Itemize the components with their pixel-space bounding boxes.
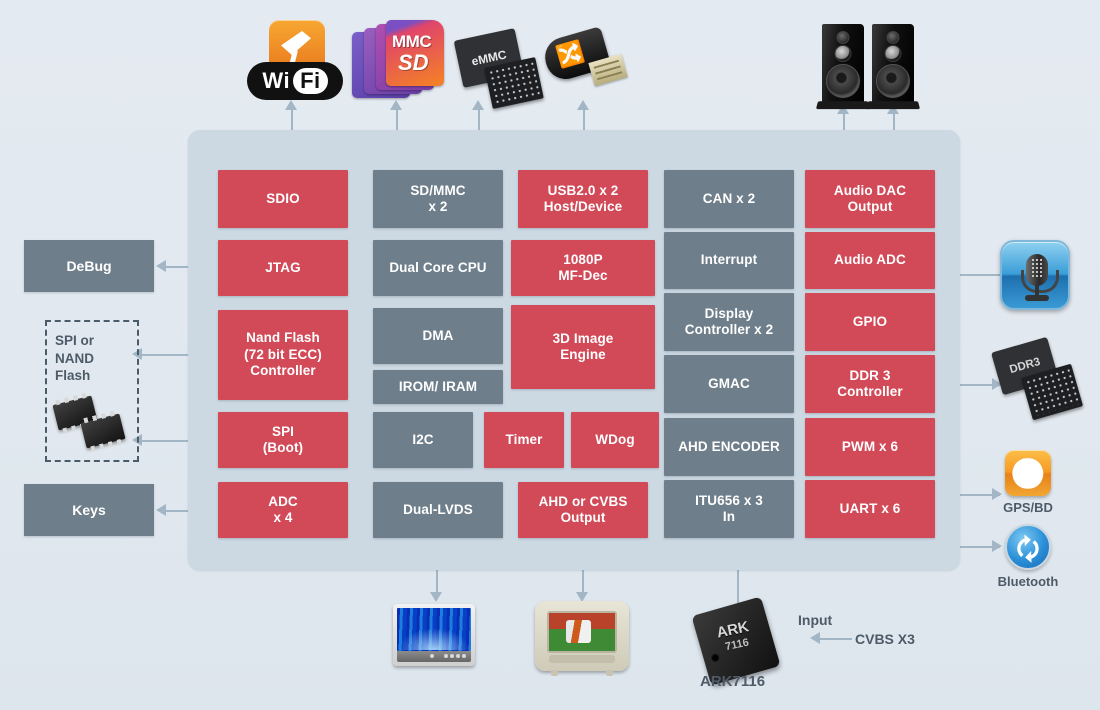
block-3d-image-engine[interactable]: 3D Image Engine: [511, 305, 655, 389]
peripheral-usb-flash-drive[interactable]: [545, 28, 631, 108]
block-pwm-x6[interactable]: PWM x 6: [805, 418, 935, 476]
block-label: Dual-LVDS: [403, 502, 473, 518]
block-label-line1: ITU656 x 3: [695, 493, 763, 509]
block-label-line2: Controller x 2: [685, 322, 773, 338]
block-label: I2C: [412, 432, 433, 448]
bluetooth-label: Bluetooth: [998, 574, 1059, 589]
block-label-line2: Engine: [560, 347, 606, 363]
block-irom-iram[interactable]: IROM/ IRAM: [373, 370, 503, 404]
block-label-line2: x 4: [273, 510, 292, 526]
lcd-monitor-icon: [393, 604, 475, 666]
mmc-sd-card-icon: MMC SD: [386, 20, 444, 86]
block-timer[interactable]: Timer: [484, 412, 564, 468]
block-label: GPIO: [853, 314, 887, 330]
label-line2: NAND: [55, 351, 94, 366]
block-label-line1: Audio DAC: [834, 183, 906, 199]
block-interrupt[interactable]: Interrupt: [664, 232, 794, 289]
label-line3: Flash: [55, 368, 90, 383]
peripheral-speakers[interactable]: [818, 24, 922, 110]
label-line1: SPI or: [55, 333, 94, 348]
block-label-line1: AHD or CVBS: [539, 494, 628, 510]
block-ahd-encoder[interactable]: AHD ENCODER: [664, 418, 794, 476]
arrowhead-bluetooth-right: [992, 540, 1002, 552]
block-label: IROM/ IRAM: [399, 379, 477, 395]
headrest-monitor-icon: [535, 601, 629, 671]
block-1080p-mf-dec[interactable]: 1080P MF-Dec: [511, 240, 655, 296]
block-label-line2: Host/Device: [544, 199, 622, 215]
input-label: Input: [798, 612, 832, 628]
arrowhead-lcd: [430, 592, 442, 602]
block-label-line1: SPI: [272, 424, 294, 440]
block-itu656-x3-in[interactable]: ITU656 x 3 In: [664, 480, 794, 538]
peripheral-ark-chip[interactable]: ARK 7116: [700, 605, 776, 681]
arrowhead-cvbs: [810, 632, 820, 644]
arrowhead-wifi: [285, 100, 297, 110]
block-ddr3-controller[interactable]: DDR 3 Controller: [805, 355, 935, 413]
block-label-line1: USB2.0 x 2: [548, 183, 619, 199]
block-uart-x6[interactable]: UART x 6: [805, 480, 935, 538]
block-gmac[interactable]: GMAC: [664, 355, 794, 413]
block-label: Dual Core CPU: [389, 260, 486, 276]
peripheral-spi-nand-flash-label: SPI or NAND Flash: [55, 332, 125, 385]
block-label-line2: x 2: [428, 199, 447, 215]
ark7116-caption: ARK7116: [700, 673, 765, 690]
block-i2c[interactable]: I2C: [373, 412, 473, 468]
block-label-line2: In: [723, 509, 735, 525]
block-can-x2[interactable]: CAN x 2: [664, 170, 794, 228]
peripheral-bluetooth[interactable]: Bluetooth: [1005, 524, 1051, 592]
block-label: SDIO: [266, 191, 299, 207]
flash-package-icon: [80, 414, 125, 449]
bga-package-icon: [484, 57, 544, 109]
block-label: Audio ADC: [834, 252, 906, 268]
arrowhead-gps-right: [992, 488, 1002, 500]
wifi-label-fi: Fi: [293, 68, 328, 94]
block-dual-core-cpu[interactable]: Dual Core CPU: [373, 240, 503, 296]
block-label-line2: (72 bit ECC): [244, 347, 322, 363]
block-wdog[interactable]: WDog: [571, 412, 659, 468]
block-label-line2: (Boot): [263, 440, 303, 456]
block-label: AHD ENCODER: [678, 439, 780, 455]
block-label: CAN x 2: [703, 191, 755, 207]
block-label: DMA: [422, 328, 453, 344]
peripheral-emmc[interactable]: eMMC: [452, 30, 548, 110]
peripheral-lcd-monitor[interactable]: [393, 604, 475, 666]
block-label: Interrupt: [701, 252, 757, 268]
block-adc-x4[interactable]: ADC x 4: [218, 482, 348, 538]
peripheral-keys[interactable]: Keys: [24, 484, 154, 536]
block-label-line1: Nand Flash: [246, 330, 320, 346]
block-label-line2: Output: [848, 199, 893, 215]
block-label-line1: ADC: [268, 494, 298, 510]
block-label-line3: Controller: [250, 363, 316, 379]
block-label: PWM x 6: [842, 439, 898, 455]
speaker-icon: [872, 24, 914, 102]
peripheral-headrest-monitor[interactable]: [535, 601, 629, 673]
microphone-icon: [1000, 240, 1070, 310]
peripheral-spi-nand-flash-group: SPI or NAND Flash: [45, 320, 139, 462]
block-display-controller-x2[interactable]: Display Controller x 2: [664, 293, 794, 351]
block-dma[interactable]: DMA: [373, 308, 503, 364]
block-label: WDog: [595, 432, 634, 448]
sd-label: SD: [398, 50, 429, 76]
block-label: GMAC: [708, 376, 750, 392]
peripheral-debug[interactable]: DeBug: [24, 240, 154, 292]
block-label-line1: 1080P: [563, 252, 603, 268]
block-label-line2: Output: [561, 510, 606, 526]
block-jtag[interactable]: JTAG: [218, 240, 348, 296]
block-label: UART x 6: [840, 501, 901, 517]
gps-globe-icon: [1005, 450, 1051, 496]
block-spi-boot[interactable]: SPI (Boot): [218, 412, 348, 468]
peripheral-gps[interactable]: GPS/BD: [1005, 450, 1051, 516]
peripheral-label: Keys: [72, 502, 105, 518]
block-label-line1: SD/MMC: [410, 183, 465, 199]
diagram-canvas: SDIO JTAG Nand Flash (72 bit ECC) Contro…: [0, 0, 1100, 710]
wifi-label-wi: Wi: [262, 68, 290, 94]
peripheral-sd-mmc-cards[interactable]: MMC SD: [352, 18, 444, 106]
block-audio-dac-output[interactable]: Audio DAC Output: [805, 170, 935, 228]
peripheral-label: DeBug: [66, 258, 111, 274]
speaker-icon: [822, 24, 864, 102]
block-ahd-or-cvbs-output[interactable]: AHD or CVBS Output: [518, 482, 648, 538]
connector-cvbs: [820, 638, 852, 640]
gps-label: GPS/BD: [1003, 500, 1053, 515]
block-label-line1: Display: [705, 306, 754, 322]
peripheral-ddr3-memory[interactable]: DDR3: [996, 344, 1086, 424]
cvbs-label: CVBS X3: [855, 631, 915, 647]
block-audio-adc[interactable]: Audio ADC: [805, 232, 935, 289]
block-label-line1: 3D Image: [553, 331, 614, 347]
block-sd-mmc-x2[interactable]: SD/MMC x 2: [373, 170, 503, 228]
block-label-line1: DDR 3: [849, 368, 890, 384]
block-gpio[interactable]: GPIO: [805, 293, 935, 351]
sd-card-stack-icon: MMC SD: [352, 18, 444, 106]
block-label-line2: Controller: [837, 384, 903, 400]
block-label: JTAG: [265, 260, 300, 276]
mmc-label: MMC: [392, 32, 431, 52]
arrowhead-keys: [156, 504, 166, 516]
block-dual-lvds[interactable]: Dual-LVDS: [373, 482, 503, 538]
block-label-line2: MF-Dec: [558, 268, 607, 284]
bluetooth-icon: [1005, 524, 1051, 570]
block-nand-flash-controller[interactable]: Nand Flash (72 bit ECC) Controller: [218, 310, 348, 400]
block-sdio[interactable]: SDIO: [218, 170, 348, 228]
block-label: Timer: [505, 432, 542, 448]
peripheral-microphone[interactable]: [1000, 240, 1070, 310]
arrowhead-debug: [156, 260, 166, 272]
block-usb2-host-device[interactable]: USB2.0 x 2 Host/Device: [518, 170, 648, 228]
wifi-logo: WiFi: [247, 62, 343, 100]
peripheral-wifi[interactable]: WiFi: [247, 20, 343, 100]
